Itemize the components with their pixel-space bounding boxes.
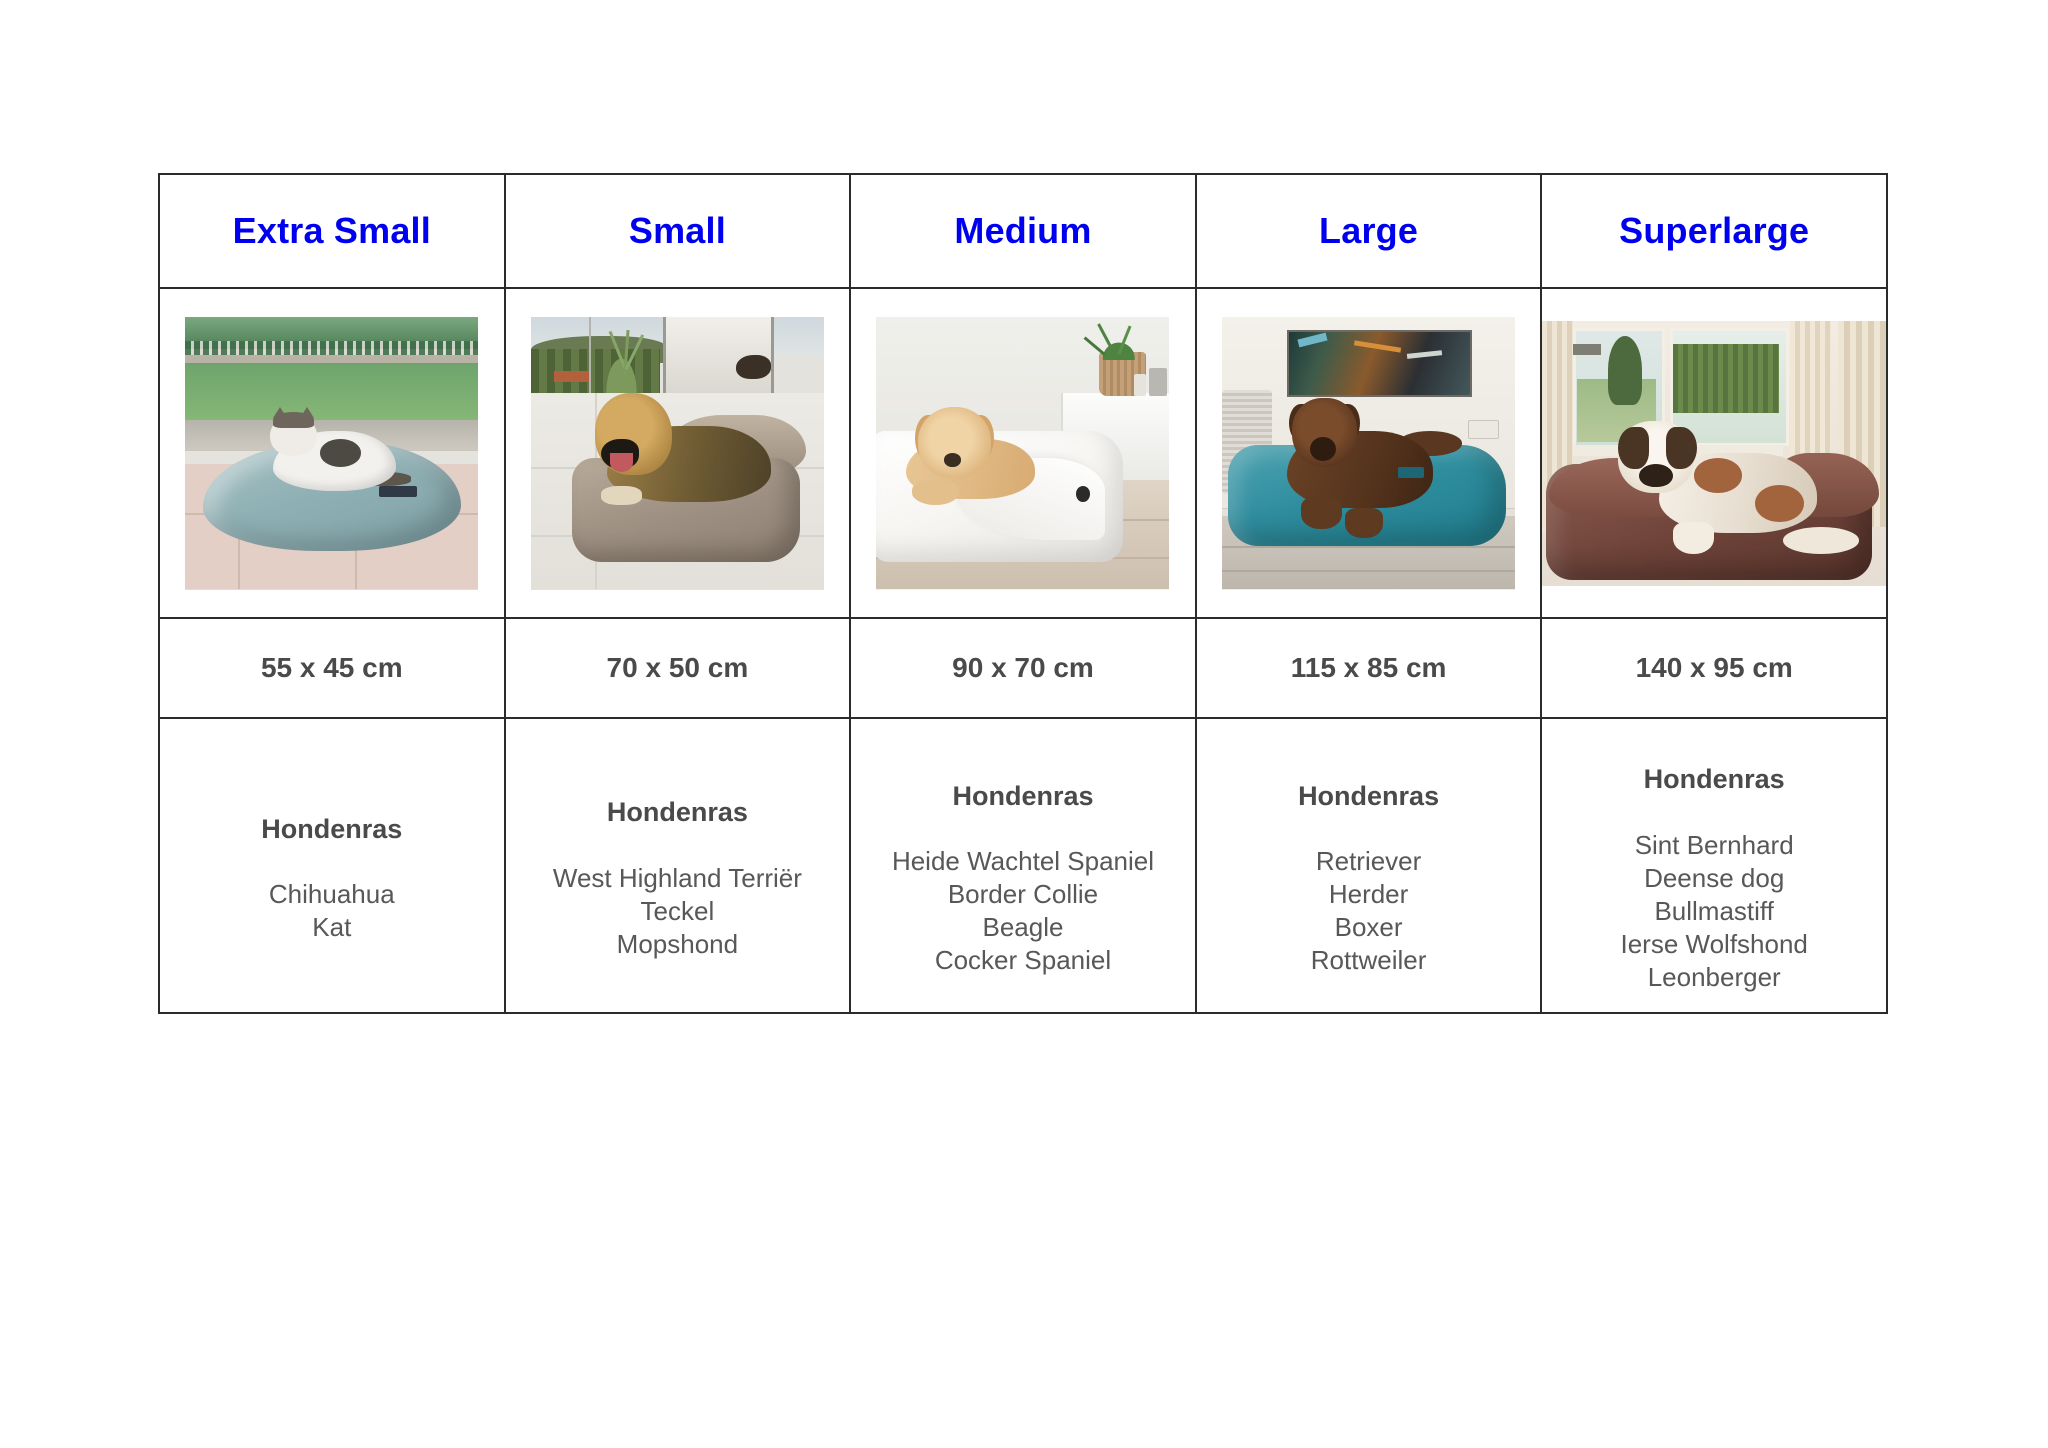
dimensions-superlarge: 140 x 95 cm	[1542, 654, 1886, 682]
breeds-cell-extra-small: Hondenras ChihuahuaKat	[159, 718, 505, 1013]
photo-cell-small	[505, 288, 851, 618]
photo-row	[159, 288, 1887, 618]
breed-list-large: RetrieverHerderBoxerRottweiler	[1311, 845, 1427, 977]
breed-item: Retriever	[1311, 845, 1427, 878]
breed-item: Kat	[269, 911, 395, 944]
breed-heading-medium: Hondenras	[952, 782, 1093, 812]
breed-item: Mopshond	[553, 928, 802, 961]
photo-saint-bernard-on-brown-bed	[1542, 321, 1886, 586]
photo-cat-on-light-blue-bed	[185, 317, 478, 590]
breed-list-medium: Heide Wachtel SpanielBorder CollieBeagle…	[892, 845, 1154, 977]
dimensions-large: 115 x 85 cm	[1197, 654, 1541, 682]
breed-heading-superlarge: Hondenras	[1644, 765, 1785, 795]
size-name-superlarge: Superlarge	[1542, 213, 1886, 249]
photo-cockapoo-on-white-bed	[876, 317, 1169, 590]
header-cell-medium: Medium	[850, 174, 1196, 288]
size-name-medium: Medium	[851, 213, 1195, 249]
dimensions-cell-superlarge: 140 x 95 cm	[1541, 618, 1887, 718]
breeds-cell-superlarge: Hondenras Sint BernhardDeense dogBullmas…	[1541, 718, 1887, 1013]
breeds-row: Hondenras ChihuahuaKat Hondenras West Hi…	[159, 718, 1887, 1013]
header-cell-superlarge: Superlarge	[1541, 174, 1887, 288]
breed-item: West Highland Terriër	[553, 862, 802, 895]
breed-heading-large: Hondenras	[1298, 782, 1439, 812]
dimensions-row: 55 x 45 cm 70 x 50 cm 90 x 70 cm 115 x 8…	[159, 618, 1887, 718]
breed-item: Heide Wachtel Spaniel	[892, 845, 1154, 878]
photo-terrier-on-taupe-bed	[531, 317, 824, 590]
breed-item: Bullmastiff	[1620, 895, 1807, 928]
size-name-small: Small	[506, 213, 850, 249]
dimensions-cell-medium: 90 x 70 cm	[850, 618, 1196, 718]
breed-list-extra-small: ChihuahuaKat	[269, 878, 395, 944]
photo-cell-extra-small	[159, 288, 505, 618]
breeds-cell-small: Hondenras West Highland TerriërTeckelMop…	[505, 718, 851, 1013]
dimensions-small: 70 x 50 cm	[506, 654, 850, 682]
dimensions-cell-small: 70 x 50 cm	[505, 618, 851, 718]
breed-heading-small: Hondenras	[607, 798, 748, 828]
document-page: Extra Small Small Medium Large Superlarg…	[0, 0, 2048, 1448]
header-cell-extra-small: Extra Small	[159, 174, 505, 288]
breed-heading-extra-small: Hondenras	[261, 815, 402, 845]
photo-cell-large	[1196, 288, 1542, 618]
breed-item: Leonberger	[1620, 961, 1807, 994]
size-name-row: Extra Small Small Medium Large Superlarg…	[159, 174, 1887, 288]
dog-bed-size-table: Extra Small Small Medium Large Superlarg…	[158, 173, 1888, 1014]
size-name-large: Large	[1197, 213, 1541, 249]
size-name-extra-small: Extra Small	[160, 213, 504, 249]
dimensions-medium: 90 x 70 cm	[851, 654, 1195, 682]
breed-item: Ierse Wolfshond	[1620, 928, 1807, 961]
dimensions-cell-extra-small: 55 x 45 cm	[159, 618, 505, 718]
breed-item: Sint Bernhard	[1620, 829, 1807, 862]
breed-list-small: West Highland TerriërTeckelMopshond	[553, 862, 802, 961]
breed-item: Rottweiler	[1311, 944, 1427, 977]
breed-item: Beagle	[892, 911, 1154, 944]
breed-item: Chihuahua	[269, 878, 395, 911]
header-cell-large: Large	[1196, 174, 1542, 288]
breed-item: Cocker Spaniel	[892, 944, 1154, 977]
photo-labrador-on-teal-bed	[1222, 317, 1515, 590]
photo-cell-medium	[850, 288, 1196, 618]
photo-cell-superlarge	[1541, 288, 1887, 618]
breed-item: Border Collie	[892, 878, 1154, 911]
dimensions-extra-small: 55 x 45 cm	[160, 654, 504, 682]
breeds-cell-large: Hondenras RetrieverHerderBoxerRottweiler	[1196, 718, 1542, 1013]
breed-item: Boxer	[1311, 911, 1427, 944]
dimensions-cell-large: 115 x 85 cm	[1196, 618, 1542, 718]
breed-item: Teckel	[553, 895, 802, 928]
header-cell-small: Small	[505, 174, 851, 288]
breed-item: Deense dog	[1620, 862, 1807, 895]
breed-item: Herder	[1311, 878, 1427, 911]
breeds-cell-medium: Hondenras Heide Wachtel SpanielBorder Co…	[850, 718, 1196, 1013]
breed-list-superlarge: Sint BernhardDeense dogBullmastiffIerse …	[1620, 829, 1807, 994]
